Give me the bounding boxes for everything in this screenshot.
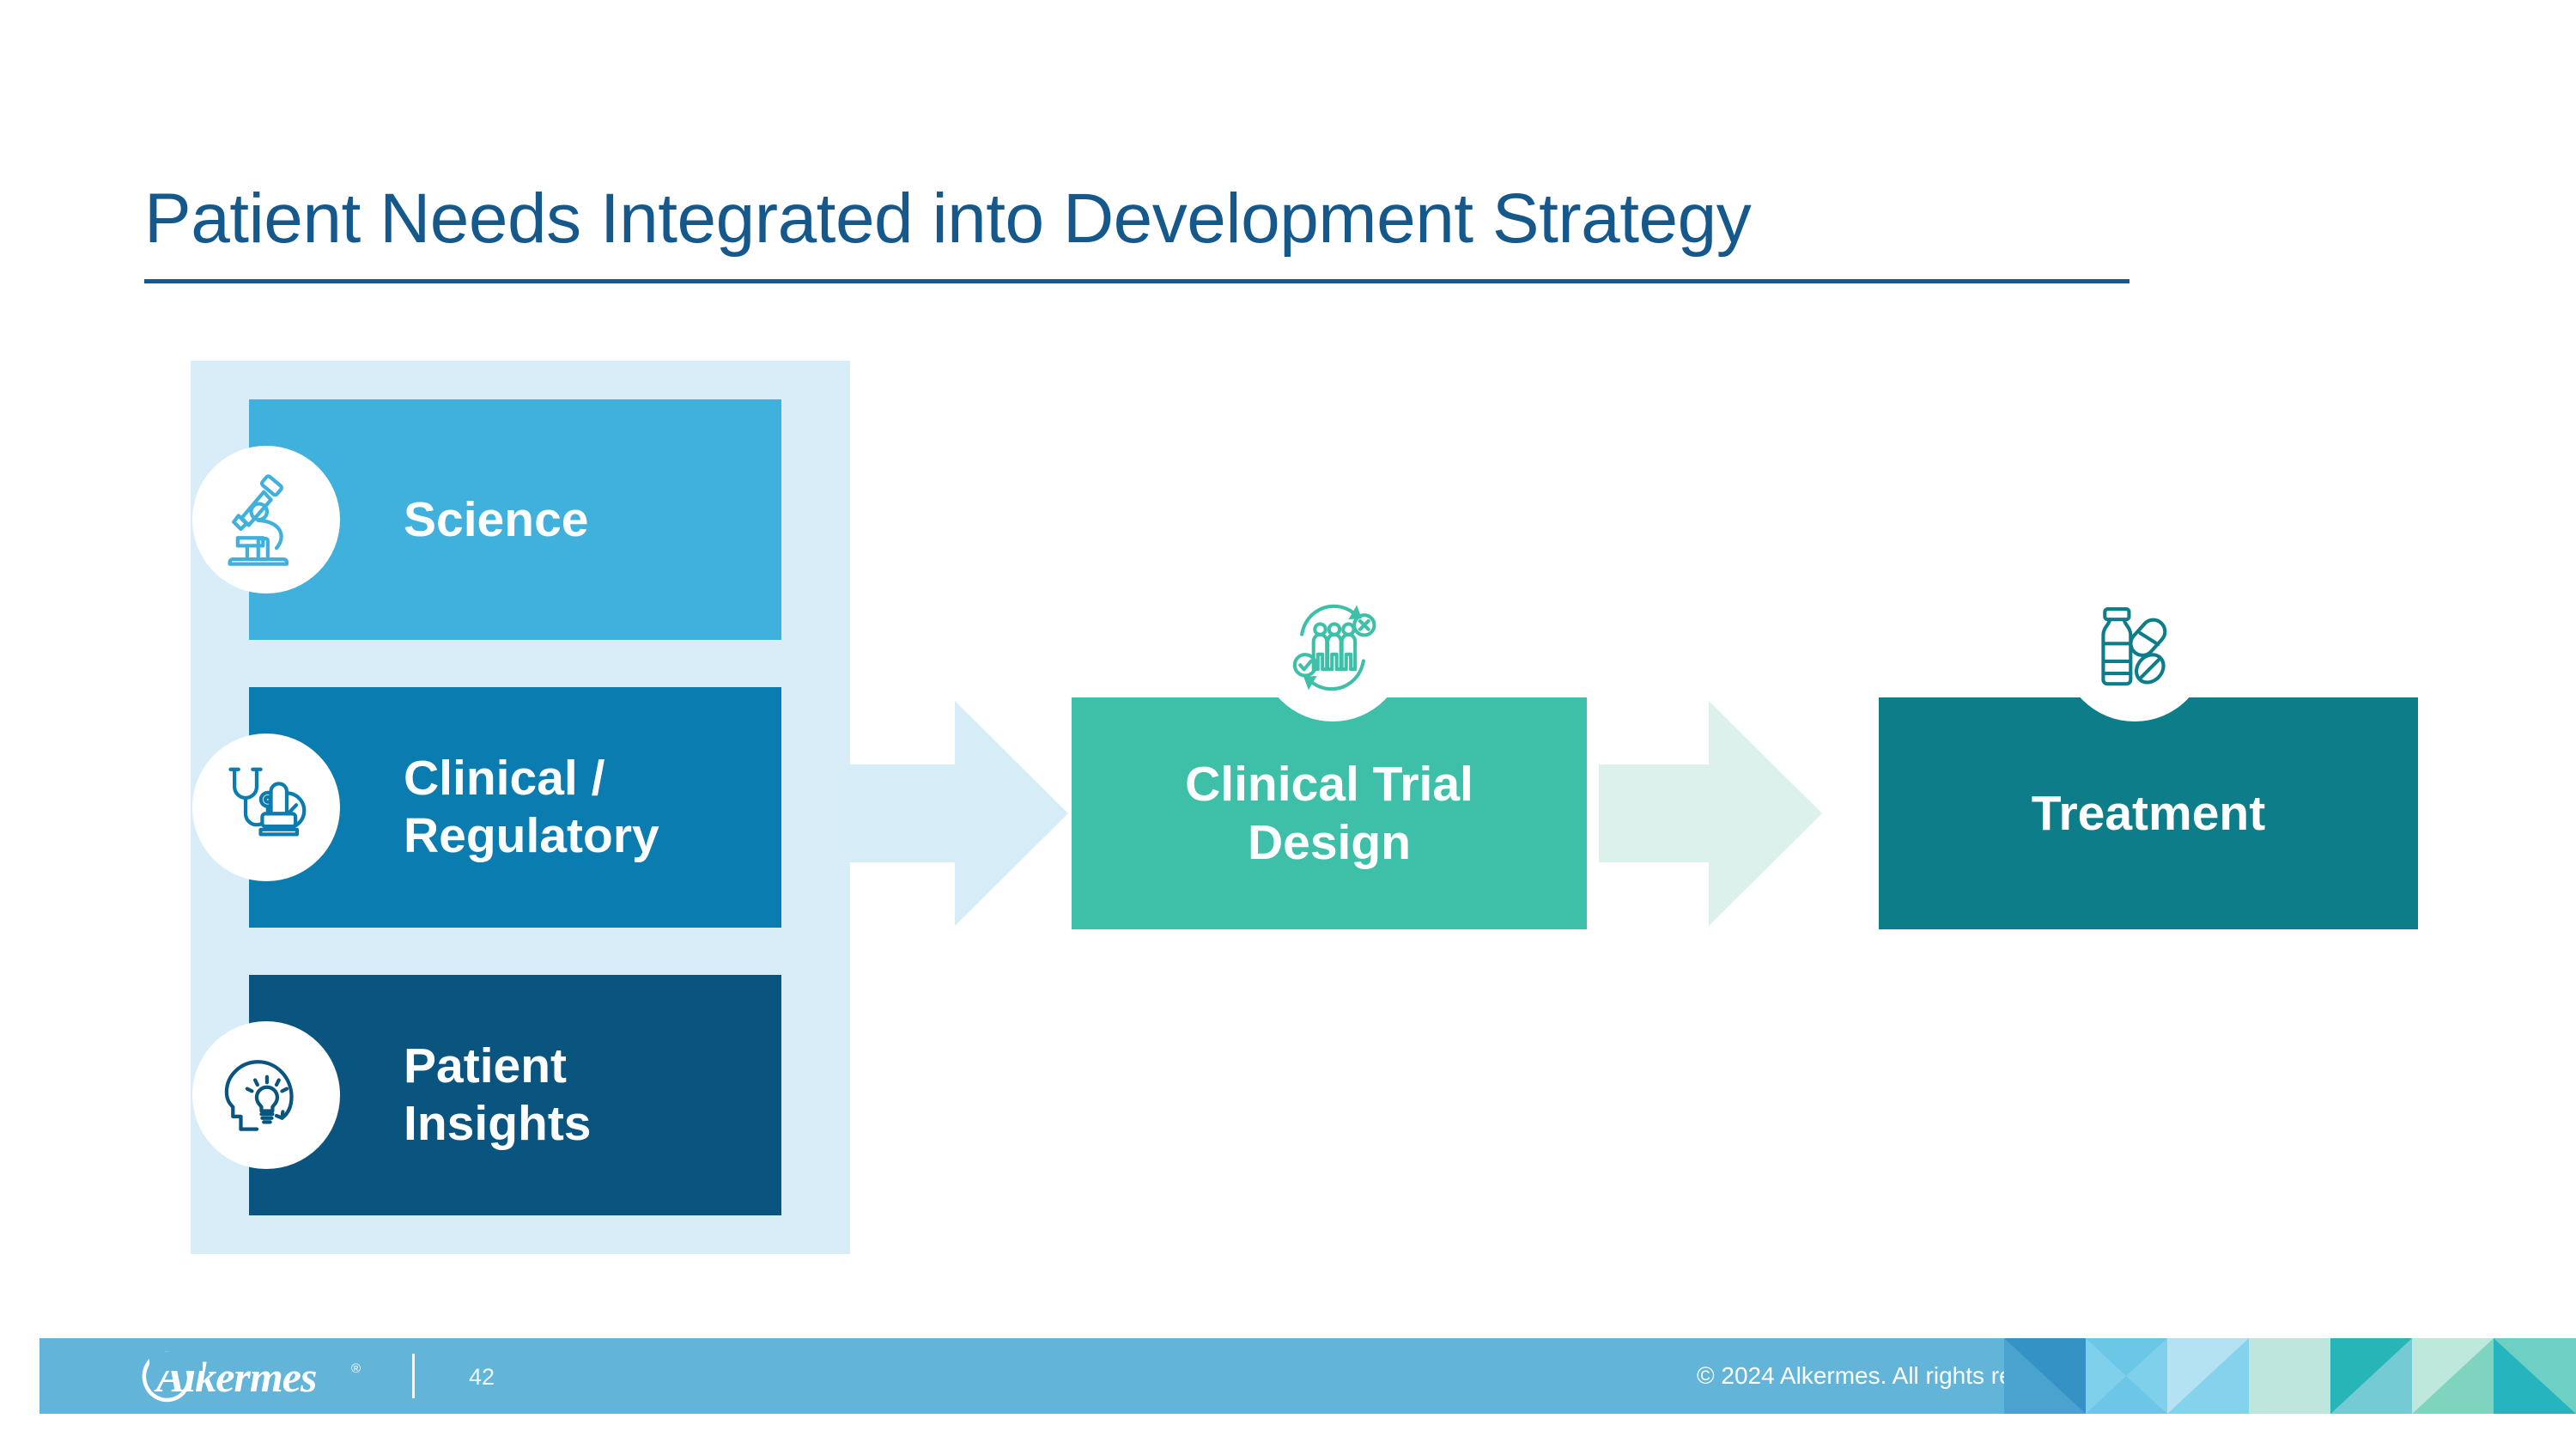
input-label-clinical-regulatory: Clinical /Regulatory [404, 750, 659, 864]
input-row-patient-insights[interactable]: PatientInsights [249, 975, 781, 1215]
page-title: Patient Needs Integrated into Developmen… [144, 179, 2136, 259]
alkermes-logo: Alkermes ® [134, 1350, 392, 1403]
label-line-1: Clinical / [404, 751, 605, 806]
stage-label-clinical-trial-design: Clinical TrialDesign [1164, 755, 1494, 873]
head-lightbulb-icon [192, 1021, 340, 1169]
svg-text:®: ® [351, 1361, 361, 1376]
input-row-clinical-regulatory[interactable]: Clinical /Regulatory [249, 687, 781, 928]
input-row-science[interactable]: Science [249, 399, 781, 640]
flow-arrow-to-treatment [1599, 697, 1822, 929]
flow-arrow-to-clinical-trial-design [845, 697, 1068, 929]
footer-divider [412, 1354, 415, 1398]
patient-cohort-cycle-icon [1259, 574, 1406, 721]
decorative-triangle-pattern [2004, 1338, 2576, 1414]
slide-footer: Alkermes ® 42 © 2024 Alkermes. All right… [39, 1338, 2576, 1414]
page-number: 42 [469, 1364, 495, 1391]
stage-clinical-trial-design[interactable]: Clinical TrialDesign [1072, 697, 1587, 929]
label-line-1: Patient [404, 1038, 567, 1093]
microscope-icon [192, 446, 340, 594]
medicine-bottle-pills-icon [2061, 574, 2208, 721]
label-line-2: Insights [404, 1096, 592, 1151]
title-underline-divider [144, 279, 2129, 283]
label-line-1: Clinical Trial [1185, 757, 1473, 812]
stage-label-treatment: Treatment [2011, 784, 2286, 843]
input-label-science: Science [404, 491, 588, 549]
label-line-2: Design [1248, 815, 1411, 870]
stethoscope-stamp-icon [192, 734, 340, 881]
stage-treatment[interactable]: Treatment [1879, 697, 2418, 929]
input-label-patient-insights: PatientInsights [404, 1038, 592, 1152]
label-line-2: Regulatory [404, 808, 659, 863]
